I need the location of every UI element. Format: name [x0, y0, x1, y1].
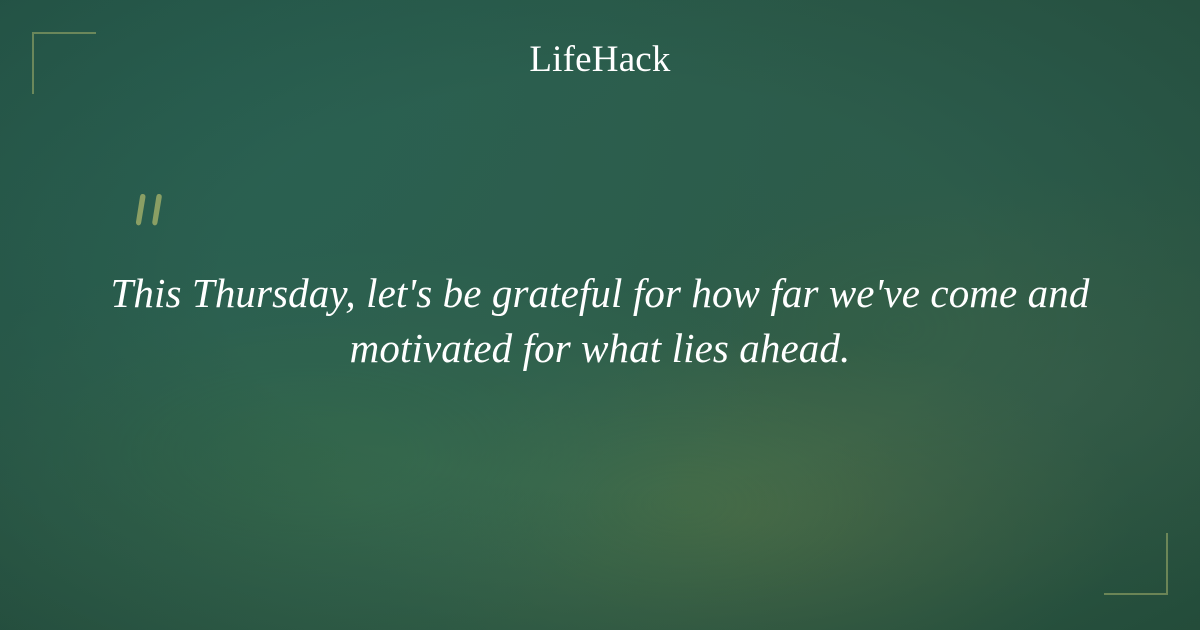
quote-text: This Thursday, let's be grateful for how… [100, 266, 1100, 375]
quote-card: LifeHack This Thursday, let's be gratefu… [0, 0, 1200, 630]
quotation-mark-icon [128, 192, 182, 242]
corner-bracket-bottom-right-icon [1104, 533, 1168, 595]
brand-logo: LifeHack [0, 40, 1200, 81]
quote-block: This Thursday, let's be grateful for how… [100, 266, 1100, 375]
